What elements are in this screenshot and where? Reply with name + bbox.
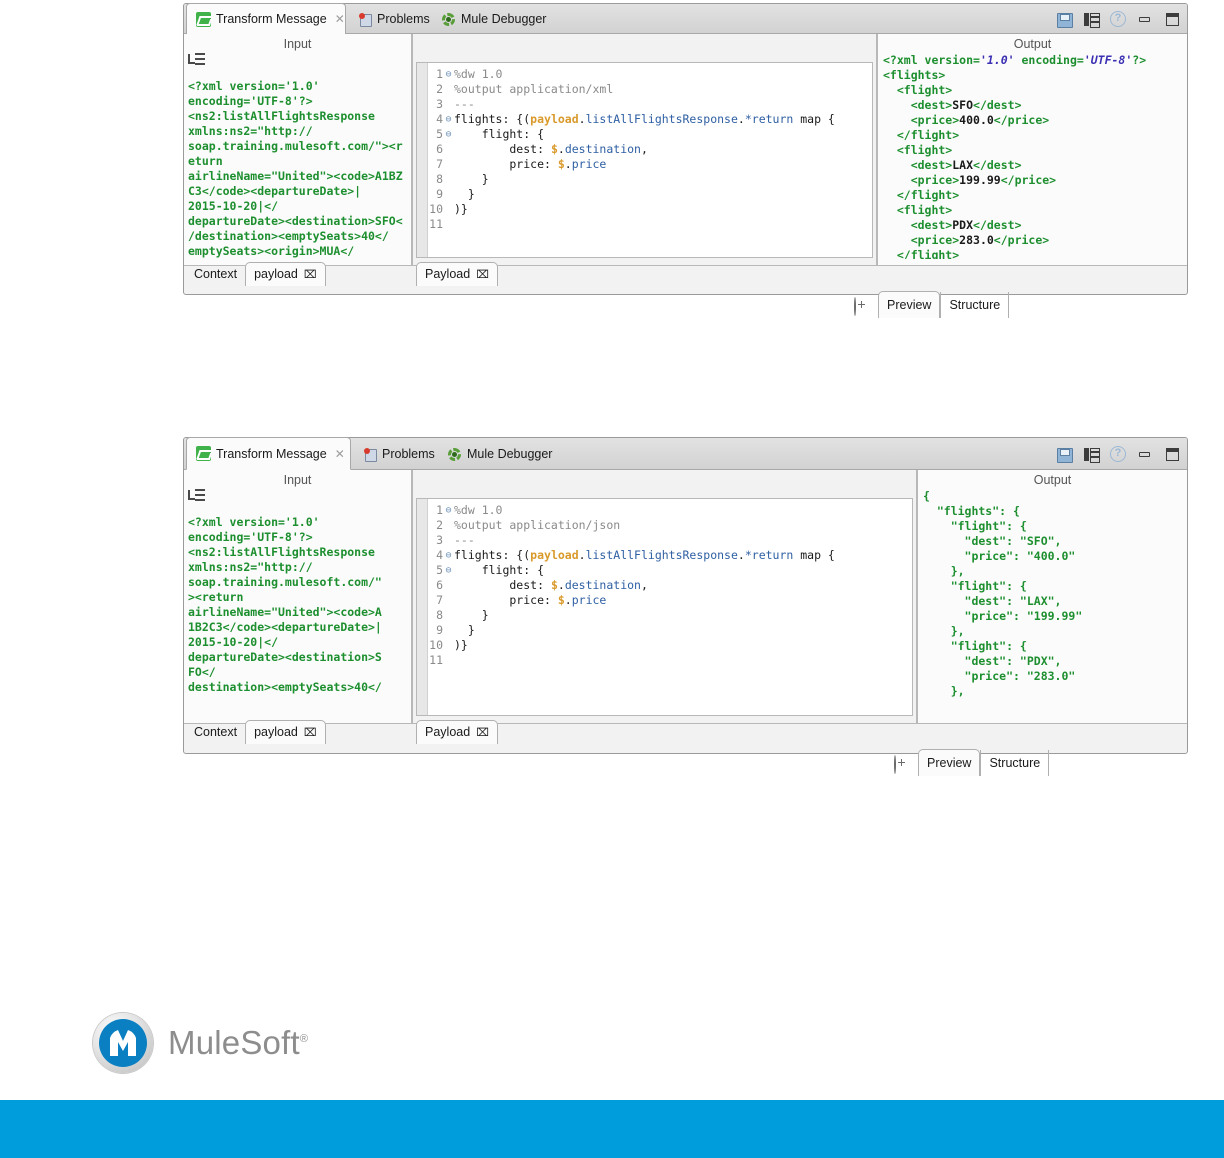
maximize-icon[interactable] (1164, 12, 1180, 27)
maximize-icon[interactable] (1164, 447, 1180, 462)
code-line: 7 price: $.price (417, 593, 912, 608)
transform-message-window-1: Transform Message ✕ Problems Mule Debugg… (183, 3, 1188, 295)
input-panel-toolbar (184, 489, 411, 509)
save-icon[interactable] (1056, 12, 1072, 27)
line-code[interactable]: flights: {(payload.listAllFlightsRespons… (454, 548, 835, 563)
output-bottom-tabs: Preview Structure (918, 749, 1049, 776)
code-line: 10)} (417, 638, 912, 653)
line-code[interactable]: --- (454, 97, 475, 112)
trademark-symbol: ® (300, 1033, 308, 1045)
output-xml-content[interactable]: <?xml version='1.0' encoding='UTF-8'?> <… (878, 53, 1187, 259)
input-panel: Input <?xml version='1.0' encoding='UTF-… (184, 34, 412, 266)
output-panel-title: Output (918, 470, 1187, 489)
mulesoft-wordmark: MuleSoft® (168, 1024, 308, 1062)
line-code[interactable]: %dw 1.0 (454, 503, 502, 518)
input-panel-title: Input (184, 34, 411, 53)
line-code[interactable]: } (454, 623, 475, 638)
tab-transform-message[interactable]: Transform Message ✕ (186, 437, 351, 470)
input-bottom-tabs: Context payload⌧ (186, 262, 326, 286)
tab-label: Transform Message (216, 12, 327, 26)
fold-toggle-icon[interactable]: ⊖ (443, 67, 454, 82)
output-tab-preview[interactable]: Preview (918, 749, 980, 776)
input-tab-payload-label: payload (254, 725, 298, 739)
code-line: 9 } (417, 623, 912, 638)
code-line: 8 } (417, 172, 872, 187)
add-output-icon (894, 755, 896, 774)
line-code[interactable]: )} (454, 202, 468, 217)
input-tab-payload-label: payload (254, 267, 298, 281)
line-code[interactable]: } (454, 187, 475, 202)
line-code[interactable]: price: $.price (454, 593, 606, 608)
transform-tab-payload[interactable]: Payload⌧ (416, 720, 498, 744)
tab-strip: Transform Message ✕ Problems Mule Debugg… (184, 4, 1187, 34)
transform-bottom-tabs: Payload⌧ (416, 720, 498, 744)
tab-label: Mule Debugger (467, 447, 552, 461)
fold-toggle-icon[interactable]: ⊖ (443, 112, 454, 127)
code-line: 8 } (417, 608, 912, 623)
output-panel: Output <?xml version='1.0' encoding='UTF… (877, 34, 1187, 266)
code-line: 6 dest: $.destination, (417, 142, 872, 157)
input-xml-content[interactable]: <?xml version='1.0' encoding='UTF-8'?> <… (184, 73, 411, 261)
line-code[interactable]: )} (454, 638, 468, 653)
editor-gutter (417, 63, 428, 257)
line-code[interactable]: flight: { (454, 127, 544, 142)
dataweave-editor[interactable]: 1⊖%dw 1.02%output application/xml3---4⊖f… (416, 62, 873, 258)
mulesoft-logo: MuleSoft® (93, 1013, 308, 1073)
minimize-icon[interactable] (1137, 447, 1153, 462)
footer-bar (0, 1100, 1224, 1158)
transform-tab-payload-label: Payload (425, 725, 470, 739)
transform-tab-payload-label: Payload (425, 267, 470, 281)
add-output-button[interactable] (894, 756, 896, 774)
close-icon[interactable]: ⌧ (476, 269, 489, 281)
fold-toggle-icon[interactable]: ⊖ (443, 548, 454, 563)
input-tab-payload[interactable]: payload⌧ (245, 262, 325, 286)
line-code[interactable]: } (454, 172, 489, 187)
output-panel-title: Output (878, 34, 1187, 53)
mulesoft-m-glyph (108, 1029, 138, 1057)
code-line: 1⊖%dw 1.0 (417, 503, 912, 518)
code-line: 11 (417, 217, 872, 232)
structure-icon[interactable] (188, 489, 205, 503)
tab-label: Mule Debugger (461, 12, 546, 26)
transform-bottom-tabs: Payload⌧ (416, 262, 498, 286)
close-icon[interactable]: ⌧ (304, 727, 317, 739)
code-line: 4⊖flights: {(payload.listAllFlightsRespo… (417, 548, 912, 563)
code-line: 7 price: $.price (417, 157, 872, 172)
code-line: 3--- (417, 533, 912, 548)
add-output-icon (854, 297, 856, 316)
fold-toggle-icon[interactable]: ⊖ (443, 563, 454, 578)
close-icon[interactable]: ⌧ (304, 269, 317, 281)
line-code[interactable]: %output application/json (454, 518, 620, 533)
tab-problems[interactable]: Problems (349, 4, 439, 34)
code-line: 1⊖%dw 1.0 (417, 67, 872, 82)
line-code[interactable]: price: $.price (454, 157, 606, 172)
input-panel-title: Input (184, 470, 411, 489)
code-line: 3--- (417, 97, 872, 112)
code-line: 2%output application/xml (417, 82, 872, 97)
mulesoft-mark-icon (93, 1013, 153, 1073)
code-line: 11 (417, 653, 912, 668)
outline-icon[interactable] (1083, 447, 1099, 462)
fold-toggle-icon[interactable]: ⊖ (443, 127, 454, 142)
window-buttons: ? (1056, 438, 1180, 470)
transform-tab-payload[interactable]: Payload⌧ (416, 262, 498, 286)
line-code[interactable]: } (454, 608, 489, 623)
brand-name: MuleSoft (168, 1024, 300, 1061)
tab-transform-message[interactable]: Transform Message ✕ (186, 3, 346, 35)
input-panel-toolbar (184, 53, 411, 73)
input-bottom-tabs: Context payload⌧ (186, 720, 326, 744)
structure-icon[interactable] (188, 53, 205, 67)
input-tab-payload[interactable]: payload⌧ (245, 720, 325, 744)
mule-debugger-icon (441, 12, 456, 27)
tab-label: Problems (377, 12, 430, 26)
help-icon[interactable]: ? (1110, 446, 1126, 462)
input-tab-context[interactable]: Context (186, 263, 245, 286)
code-line: 9 } (417, 187, 872, 202)
code-line: 4⊖flights: {(payload.listAllFlightsRespo… (417, 112, 872, 127)
line-code[interactable]: --- (454, 533, 475, 548)
line-code[interactable]: flight: { (454, 563, 544, 578)
line-code[interactable]: %dw 1.0 (454, 67, 502, 82)
transform-message-icon (196, 12, 211, 27)
output-tab-preview[interactable]: Preview (878, 291, 940, 318)
line-code[interactable]: dest: $.destination, (454, 142, 648, 157)
transform-message-window-2: Transform Message ✕ Problems Mule Debugg… (183, 437, 1188, 754)
line-code[interactable]: flights: {(payload.listAllFlightsRespons… (454, 112, 835, 127)
add-output-button[interactable] (854, 298, 856, 316)
dataweave-editor[interactable]: 1⊖%dw 1.02%output application/json3---4⊖… (416, 498, 913, 716)
dataweave-lines: 1⊖%dw 1.02%output application/json3---4⊖… (417, 499, 912, 668)
code-line: 6 dest: $.destination, (417, 578, 912, 593)
close-icon[interactable]: ⌧ (476, 727, 489, 739)
tab-strip: Transform Message ✕ Problems Mule Debugg… (184, 438, 1187, 470)
output-tab-structure[interactable]: Structure (980, 750, 1049, 776)
input-tab-context[interactable]: Context (186, 721, 245, 744)
outline-icon[interactable] (1083, 12, 1099, 27)
line-code[interactable]: dest: $.destination, (454, 578, 648, 593)
problems-icon (358, 12, 372, 27)
editor-gutter (417, 499, 428, 715)
tab-label: Problems (382, 447, 435, 461)
tab-problems[interactable]: Problems (354, 438, 444, 470)
window-buttons: ? (1056, 4, 1180, 34)
save-icon[interactable] (1056, 447, 1072, 462)
code-line: 5⊖ flight: { (417, 127, 872, 142)
output-panel: Output { "flights": { "flight": { "dest"… (917, 470, 1187, 724)
tab-mule-debugger[interactable]: Mule Debugger (432, 4, 555, 34)
mule-debugger-icon (447, 447, 462, 462)
input-panel: Input <?xml version='1.0' encoding='UTF-… (184, 470, 412, 724)
minimize-icon[interactable] (1137, 12, 1153, 27)
line-code[interactable]: %output application/xml (454, 82, 613, 97)
fold-toggle-icon[interactable]: ⊖ (443, 503, 454, 518)
code-line: 2%output application/json (417, 518, 912, 533)
tab-mule-debugger[interactable]: Mule Debugger (438, 438, 561, 470)
help-icon[interactable]: ? (1110, 11, 1126, 27)
code-line: 5⊖ flight: { (417, 563, 912, 578)
close-icon[interactable]: ✕ (335, 12, 345, 26)
output-tab-structure[interactable]: Structure (940, 292, 1009, 318)
code-line: 10)} (417, 202, 872, 217)
problems-icon (363, 447, 377, 462)
output-json-content[interactable]: { "flights": { "flight": { "dest": "SFO"… (918, 489, 1187, 717)
input-xml-content[interactable]: <?xml version='1.0' encoding='UTF-8'?> <… (184, 509, 411, 719)
close-icon[interactable]: ✕ (335, 447, 345, 461)
tab-label: Transform Message (216, 447, 327, 461)
output-bottom-tabs: Preview Structure (878, 291, 1009, 318)
transform-message-icon (196, 446, 211, 461)
dataweave-lines: 1⊖%dw 1.02%output application/xml3---4⊖f… (417, 63, 872, 232)
